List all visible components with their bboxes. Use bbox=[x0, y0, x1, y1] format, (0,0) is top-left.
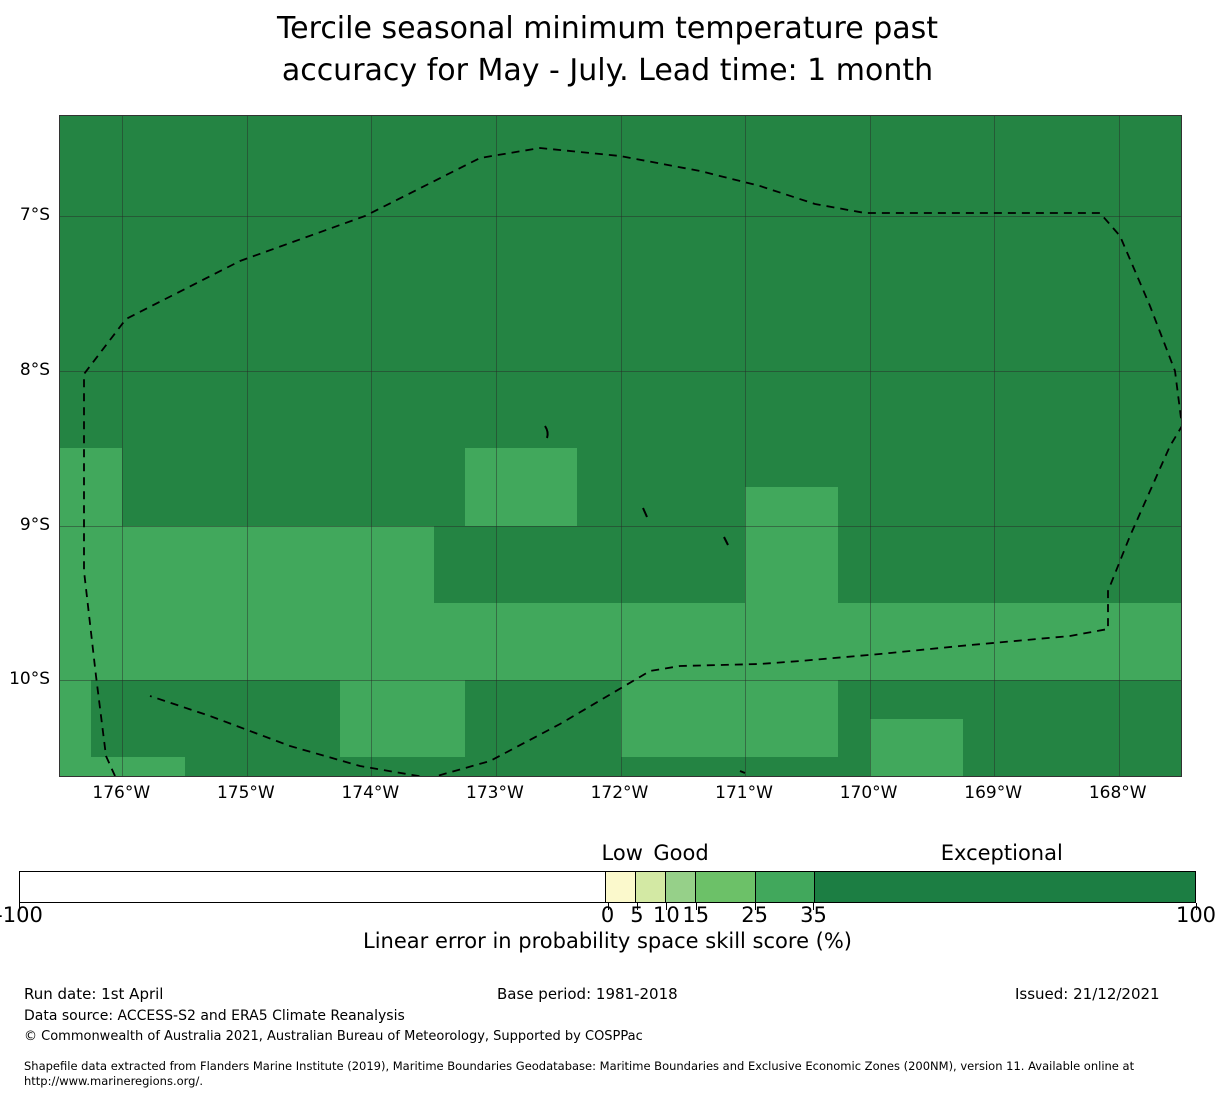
footer-base-period: Base period: 1981-2018 bbox=[497, 985, 678, 1003]
colorbar-band bbox=[635, 872, 665, 902]
colorbar-band bbox=[605, 872, 635, 902]
x-axis-tick-label: 175°W bbox=[201, 783, 291, 803]
x-axis-tick-label: 173°W bbox=[450, 783, 540, 803]
x-axis-tick-label: 176°W bbox=[76, 783, 166, 803]
colorbar-category-label: Good bbox=[531, 841, 831, 865]
footer-shapefile-attribution: Shapefile data extracted from Flanders M… bbox=[24, 1059, 1204, 1089]
coastline-overlay bbox=[60, 116, 1181, 776]
x-axis-tick-label: 174°W bbox=[325, 783, 415, 803]
x-axis-tick-label: 170°W bbox=[824, 783, 914, 803]
footer-data-source: Data source: ACCESS-S2 and ERA5 Climate … bbox=[24, 1008, 405, 1024]
colorbar-tick-label: -100 bbox=[0, 903, 79, 927]
colorbar-band bbox=[755, 872, 814, 902]
y-axis-tick-label: 10°S bbox=[0, 669, 50, 689]
colorbar-tick-label: 35 bbox=[753, 903, 873, 927]
colorbar-band bbox=[20, 872, 605, 902]
y-axis-tick-label: 7°S bbox=[0, 205, 50, 225]
colorbar-category-label: Exceptional bbox=[852, 841, 1152, 865]
colorbar bbox=[19, 871, 1196, 903]
footer-run-date: Run date: 1st April bbox=[24, 985, 163, 1003]
colorbar-band bbox=[665, 872, 695, 902]
colorbar-tick-label: 100 bbox=[1136, 903, 1215, 927]
footer-copyright: © Commonwealth of Australia 2021, Austra… bbox=[24, 1029, 643, 1044]
footer-issued-date: Issued: 21/12/2021 bbox=[1015, 985, 1160, 1003]
map-plot-area bbox=[59, 115, 1182, 777]
colorbar-axis-label: Linear error in probability space skill … bbox=[0, 929, 1215, 953]
colorbar-band bbox=[695, 872, 754, 902]
x-axis-tick-label: 172°W bbox=[575, 783, 665, 803]
x-axis-tick-label: 171°W bbox=[699, 783, 789, 803]
y-axis-tick-label: 8°S bbox=[0, 360, 50, 380]
x-axis-tick-label: 168°W bbox=[1073, 783, 1163, 803]
colorbar-band bbox=[814, 872, 1195, 902]
colorbar-gradient bbox=[19, 871, 1196, 903]
y-axis-tick-label: 9°S bbox=[0, 515, 50, 535]
page-title: Tercile seasonal minimum temperature pas… bbox=[0, 8, 1215, 92]
x-axis-tick-label: 169°W bbox=[948, 783, 1038, 803]
